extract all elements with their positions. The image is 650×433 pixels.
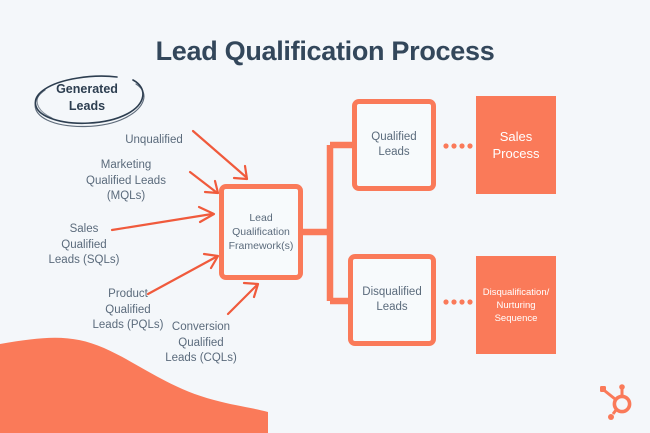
generated-leads-badge: Generated Leads bbox=[28, 72, 146, 124]
page-title: Lead Qualification Process bbox=[0, 36, 650, 67]
diagram-text: Lead Qualification Process Generated Lea… bbox=[0, 0, 650, 433]
generated-leads-label: Generated Leads bbox=[28, 81, 146, 115]
source-label-mql: Marketing Qualified Leads (MQLs) bbox=[66, 158, 186, 205]
diagram-canvas: Lead Qualification Framework(s) Qualifie… bbox=[0, 0, 650, 433]
source-label-sql: Sales Qualified Leads (SQLs) bbox=[28, 222, 140, 269]
source-label-unqualified: Unqualified bbox=[104, 133, 204, 149]
source-label-cql: Conversion Qualified Leads (CQLs) bbox=[146, 320, 256, 367]
